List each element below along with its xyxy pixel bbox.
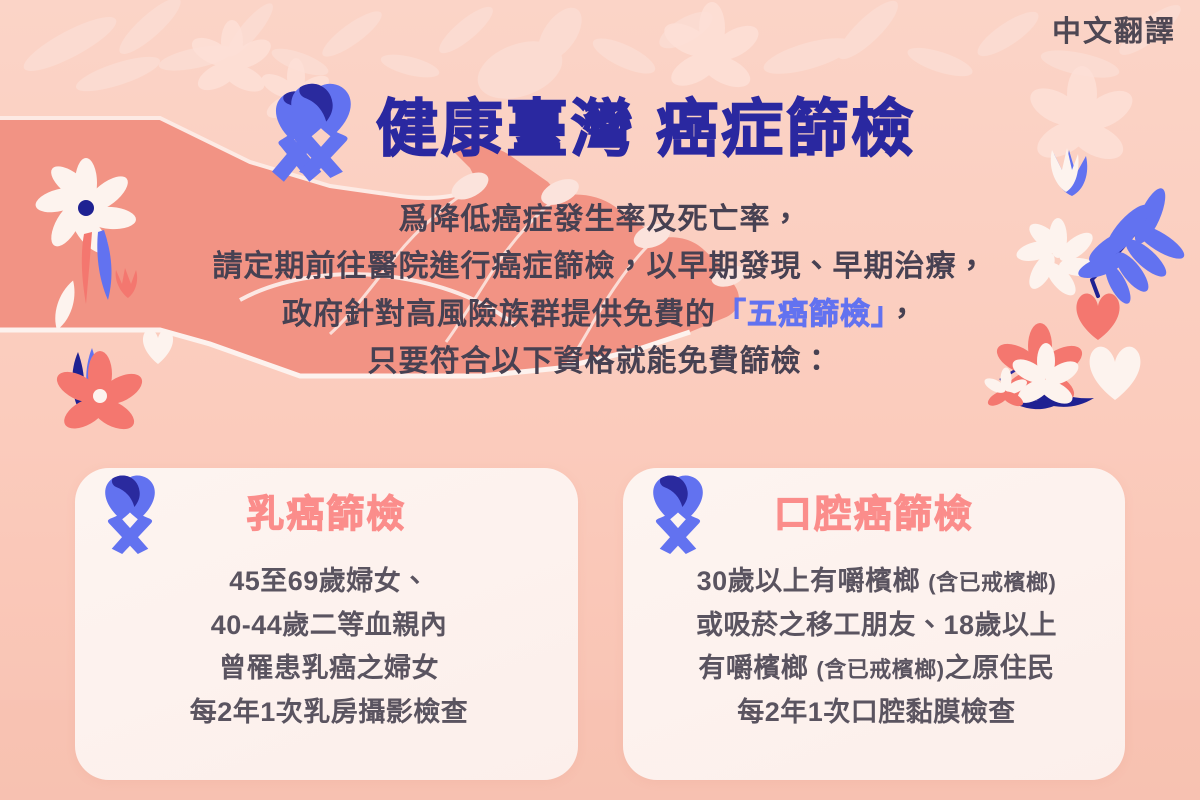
card-line: 曾罹患乳癌之婦女 — [89, 647, 569, 691]
intro-paragraph: 爲降低癌症發生率及死亡率， 請定期前往醫院進行癌症篩檢，以早期發現、早期治療， … — [0, 196, 1200, 386]
card-line: 40-44歲二等血親內 — [89, 604, 569, 648]
card-line: 45至69歲婦女、 — [89, 560, 569, 604]
card-line: 30歲以上有嚼檳榔 (含已戒檳榔) — [637, 560, 1117, 604]
card-title-breast: 乳癌篩檢 — [75, 496, 578, 534]
screening-card-list: 乳癌篩檢 45至69歲婦女、 40-44歲二等血親內 曾罹患乳癌之婦女 每2年1… — [75, 468, 1125, 780]
intro-line-1: 爲降低癌症發生率及死亡率， — [0, 196, 1200, 243]
card-breast-cancer-screening: 乳癌篩檢 45至69歲婦女、 40-44歲二等血親內 曾罹患乳癌之婦女 每2年1… — [75, 468, 578, 780]
card-line-note: (含已戒檳榔) — [928, 570, 1056, 595]
card-line-text: 30歲以上有嚼檳榔 — [697, 566, 929, 596]
intro-line-2: 請定期前往醫院進行癌症篩檢，以早期發現、早期治療， — [0, 243, 1200, 290]
intro-line-3-prefix: 政府針對高風險族群提供免費的 — [282, 298, 716, 331]
card-body-oral: 30歲以上有嚼檳榔 (含已戒檳榔) 或吸菸之移工朋友、18歲以上 有嚼檳榔 (含… — [637, 560, 1117, 735]
card-line: 每2年1次乳房攝影檢查 — [89, 691, 569, 735]
poster-canvas: 中文翻譯 健康臺灣 癌症篩檢 爲降低癌症發生率及死亡率， 請定期前往醫院進行癌症… — [0, 0, 1200, 800]
card-line-tail: 之原住民 — [945, 653, 1055, 683]
page-title: 健康臺灣 癌症篩檢 — [376, 99, 916, 161]
card-oral-cancer-screening: 口腔癌篩檢 30歲以上有嚼檳榔 (含已戒檳榔) 或吸菸之移工朋友、18歲以上 有… — [623, 468, 1126, 780]
intro-line-3: 政府針對高風險族群提供免費的「五癌篩檢」， — [0, 291, 1200, 338]
intro-line-4: 只要符合以下資格就能免費篩檢： — [0, 338, 1200, 385]
card-line: 或吸菸之移工朋友、18歲以上 — [637, 604, 1117, 648]
card-title-oral: 口腔癌篩檢 — [623, 496, 1126, 534]
card-body-breast: 45至69歲婦女、 40-44歲二等血親內 曾罹患乳癌之婦女 每2年1次乳房攝影… — [89, 560, 569, 735]
intro-line-3-suffix: ， — [887, 298, 918, 331]
translation-tag: 中文翻譯 — [1052, 18, 1176, 47]
card-line: 每2年1次口腔黏膜檢查 — [637, 691, 1117, 735]
card-line: 有嚼檳榔 (含已戒檳榔)之原住民 — [637, 647, 1117, 691]
header-title-row: 健康臺灣 癌症篩檢 — [0, 82, 1200, 178]
card-line-note: (含已戒檳榔) — [816, 657, 944, 682]
five-cancer-screening-highlight: 「五癌篩檢」 — [716, 298, 887, 331]
awareness-ribbon-icon — [284, 82, 358, 178]
card-line-text: 有嚼檳榔 — [698, 653, 816, 683]
